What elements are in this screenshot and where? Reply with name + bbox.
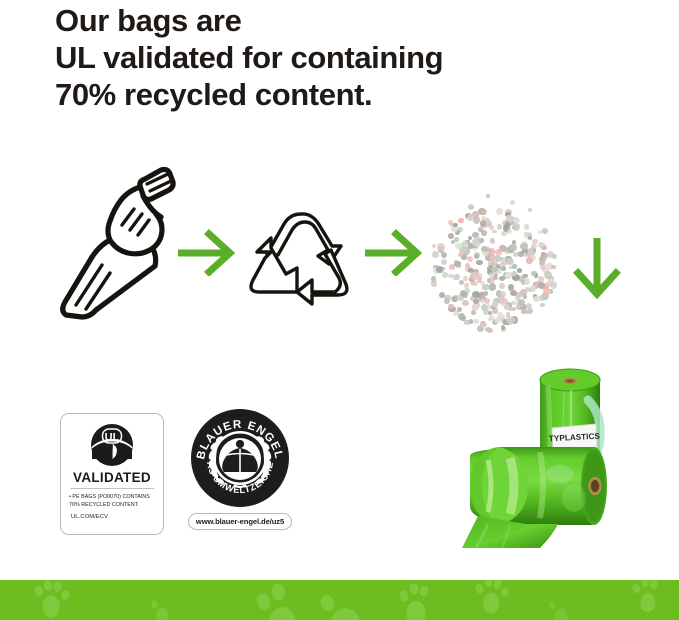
pellet bbox=[448, 220, 453, 225]
recycle-icon bbox=[243, 208, 353, 308]
pellet bbox=[471, 310, 476, 314]
ul-validated-label: VALIDATED bbox=[61, 470, 163, 485]
pellet bbox=[464, 283, 468, 287]
pellet bbox=[497, 224, 503, 230]
footer-band bbox=[0, 580, 679, 620]
pellet bbox=[448, 304, 453, 310]
pellet bbox=[488, 311, 492, 315]
pellet bbox=[480, 220, 486, 227]
pellet bbox=[508, 284, 514, 290]
pellet bbox=[510, 317, 516, 322]
pellet bbox=[472, 303, 479, 310]
pellet bbox=[511, 301, 516, 305]
pellet bbox=[507, 229, 512, 234]
ul-mark-text: UL bbox=[105, 431, 120, 443]
pellet bbox=[501, 257, 506, 262]
pellet bbox=[458, 218, 464, 223]
pellet bbox=[531, 243, 537, 249]
pellet bbox=[451, 296, 457, 302]
blauer-engel-badge: BLAUER ENGEL DAS UMWELTZEICHEN www.blaue… bbox=[188, 408, 292, 540]
pellet bbox=[492, 301, 498, 308]
pellet bbox=[524, 224, 530, 230]
pellet bbox=[470, 281, 475, 285]
pellet bbox=[538, 242, 544, 248]
pellet bbox=[528, 208, 532, 212]
pellet bbox=[501, 266, 506, 271]
pellet bbox=[540, 264, 546, 270]
pellet bbox=[457, 307, 462, 312]
pellet-pile bbox=[424, 198, 564, 338]
headline-line-3: 70% recycled content. bbox=[55, 76, 655, 113]
pellet bbox=[527, 308, 533, 314]
pellet bbox=[467, 256, 473, 262]
pellet bbox=[540, 303, 545, 308]
page-title: Our bags are UL validated for containing… bbox=[55, 2, 655, 113]
pellet bbox=[501, 325, 506, 330]
pellet bbox=[476, 260, 482, 266]
bag-roll-lying bbox=[462, 447, 607, 548]
arrow-down-icon bbox=[572, 238, 622, 300]
ul-validated-badge: UL VALIDATED • PE BAGS (PO0070) CONTAINS… bbox=[60, 413, 164, 535]
pellet bbox=[531, 271, 535, 276]
pellet bbox=[448, 233, 454, 239]
pellet bbox=[538, 282, 545, 288]
bottle-icon bbox=[52, 165, 177, 320]
arrow-right-icon bbox=[178, 228, 236, 276]
pellet bbox=[552, 254, 557, 259]
pellet bbox=[492, 230, 497, 234]
pellet bbox=[521, 309, 526, 314]
pellet bbox=[493, 276, 498, 280]
pellet bbox=[543, 253, 548, 258]
pellet bbox=[456, 264, 461, 268]
pellet bbox=[467, 214, 474, 221]
ul-fine-print: • PE BAGS (PO0070) CONTAINS 70% RECYCLED… bbox=[69, 493, 156, 509]
blauer-engel-url-text: www.blauer-engel.de/uz5 bbox=[196, 517, 284, 526]
pellet bbox=[496, 208, 503, 215]
pellet bbox=[542, 228, 548, 234]
pellet bbox=[462, 300, 468, 306]
ul-mark-icon: UL bbox=[90, 423, 134, 467]
ul-url-text: UL.COM/ECV bbox=[71, 514, 108, 520]
pellet bbox=[449, 264, 455, 270]
pellet bbox=[489, 225, 494, 230]
pellet bbox=[468, 204, 474, 210]
pellet bbox=[494, 317, 502, 323]
pellet bbox=[432, 244, 436, 248]
pellet bbox=[513, 223, 521, 231]
pellet bbox=[482, 285, 487, 290]
product-label: TYPLASTICS bbox=[549, 424, 601, 451]
pellet bbox=[489, 254, 495, 259]
pellet bbox=[472, 272, 479, 279]
pellet bbox=[510, 200, 515, 205]
pellet bbox=[431, 280, 438, 287]
headline-line-2: UL validated for containing bbox=[55, 39, 655, 76]
pellet bbox=[444, 298, 450, 303]
blauer-engel-url-box: www.blauer-engel.de/uz5 bbox=[188, 513, 292, 530]
pellet bbox=[473, 319, 479, 324]
pellet bbox=[550, 281, 557, 289]
pellet bbox=[441, 259, 447, 265]
pellets-image bbox=[424, 198, 564, 338]
blauer-engel-seal-icon: BLAUER ENGEL DAS UMWELTZEICHEN bbox=[190, 408, 290, 508]
pellet bbox=[474, 254, 479, 259]
pellet bbox=[442, 272, 448, 279]
pellet bbox=[517, 268, 522, 273]
pellet bbox=[490, 238, 495, 243]
pellet bbox=[487, 328, 493, 334]
pellet bbox=[455, 243, 461, 250]
pellet bbox=[489, 283, 497, 291]
arrow-right-icon bbox=[365, 228, 423, 276]
bag-roll-photo: TYPLASTICS bbox=[448, 348, 648, 553]
pellet bbox=[459, 280, 464, 285]
pellet bbox=[472, 291, 479, 298]
pellet bbox=[506, 215, 513, 223]
pellet bbox=[500, 246, 507, 253]
pellet bbox=[504, 304, 510, 310]
pellet bbox=[520, 289, 527, 296]
pellet bbox=[509, 244, 516, 251]
pellet bbox=[436, 266, 443, 274]
pellet bbox=[474, 236, 481, 243]
pellet bbox=[451, 240, 455, 244]
pellet bbox=[533, 296, 540, 302]
pellet bbox=[486, 194, 490, 198]
pellet bbox=[437, 243, 444, 251]
pellet bbox=[462, 292, 468, 298]
pellet bbox=[488, 317, 492, 322]
pellet bbox=[506, 258, 513, 265]
divider bbox=[70, 488, 154, 489]
recycling-process-diagram bbox=[0, 160, 679, 325]
pellet bbox=[551, 265, 555, 269]
pellet bbox=[514, 218, 520, 224]
headline-line-1: Our bags are bbox=[55, 2, 655, 39]
pellet bbox=[499, 283, 505, 289]
pellet bbox=[526, 257, 533, 263]
